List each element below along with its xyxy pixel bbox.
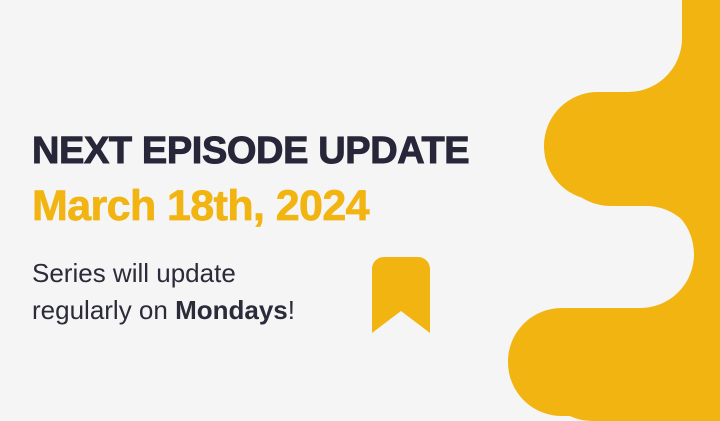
blob-path-main	[508, 0, 720, 421]
schedule-line-1: Series will update	[32, 255, 295, 292]
page-title: NEXT EPISODE UPDATE	[32, 131, 469, 171]
blob-path-upper	[539, 0, 720, 421]
banner-text-block: NEXT EPISODE UPDATE March 18th, 2024 Ser…	[32, 0, 512, 421]
schedule-day-emphasis: Mondays	[175, 295, 288, 325]
schedule-line-2-prefix: regularly on	[32, 295, 175, 325]
schedule-line-2-suffix: !	[288, 295, 295, 325]
episode-date: March 18th, 2024	[32, 183, 369, 229]
schedule-line-2: regularly on Mondays!	[32, 292, 295, 329]
scalloped-wave-decoration	[490, 0, 720, 421]
bookmark-shape	[372, 257, 430, 333]
next-episode-update-banner: NEXT EPISODE UPDATE March 18th, 2024 Ser…	[0, 0, 720, 421]
schedule-description: Series will update regularly on Mondays!	[32, 255, 295, 329]
bookmark-icon	[372, 257, 430, 333]
